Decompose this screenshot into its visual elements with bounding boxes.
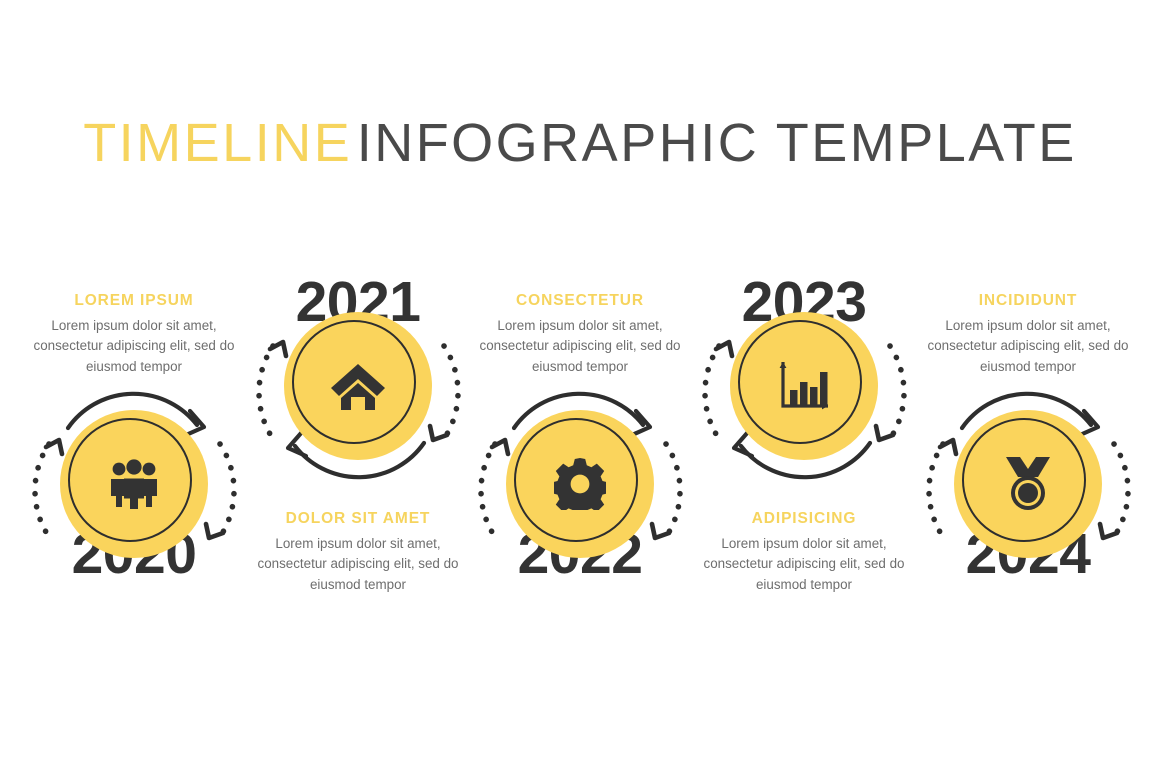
home-icon	[284, 312, 432, 460]
step-heading: ADIPISICING	[688, 510, 920, 527]
page-title: TIMELINE INFOGRAPHIC TEMPLATE	[0, 112, 1160, 174]
right-arc-hook	[206, 524, 223, 538]
page-title-main: INFOGRAPHIC TEMPLATE	[357, 113, 1077, 173]
timeline-step-2021[interactable]: 2021 DOLOR SIT AMET Lorem ipsum dolor	[242, 266, 474, 626]
right-arc-hook	[1100, 524, 1117, 538]
step-heading: LOREM IPSUM	[18, 292, 250, 309]
step-heading: DOLOR SIT AMET	[242, 510, 474, 527]
right-arc-hook	[652, 524, 669, 538]
gear-icon	[506, 410, 654, 558]
step-circle-stage	[918, 392, 1138, 592]
left-dotted-arc	[259, 346, 273, 434]
step-text-block: LOREM IPSUM Lorem ipsum dolor sit amet, …	[18, 292, 250, 377]
right-dotted-arc	[1114, 444, 1128, 532]
step-heading: CONSECTETUR	[464, 292, 696, 309]
timeline-step-2023[interactable]: 2023	[688, 266, 920, 626]
right-arc-hook	[430, 426, 447, 440]
right-arc-hook	[876, 426, 893, 440]
right-dotted-arc	[890, 346, 904, 434]
timeline-step-2022[interactable]: CONSECTETUR Lorem ipsum dolor sit amet, …	[464, 270, 696, 630]
step-text-block: CONSECTETUR Lorem ipsum dolor sit amet, …	[464, 292, 696, 377]
step-text-block: ADIPISICING Lorem ipsum dolor sit amet, …	[688, 510, 920, 595]
left-dotted-arc	[705, 346, 719, 434]
page-title-accent: TIMELINE	[83, 113, 352, 173]
medal-icon	[954, 410, 1102, 558]
left-dotted-arc	[929, 444, 943, 532]
step-body: Lorem ipsum dolor sit amet, consectetur …	[912, 316, 1144, 377]
step-body: Lorem ipsum dolor sit amet, consectetur …	[688, 534, 920, 595]
step-circle-stage	[470, 392, 690, 592]
step-circle-stage	[248, 294, 468, 494]
timeline-step-2024[interactable]: INCIDIDUNT Lorem ipsum dolor sit amet, c…	[912, 270, 1144, 630]
step-text-block: DOLOR SIT AMET Lorem ipsum dolor sit ame…	[242, 510, 474, 595]
step-heading: INCIDIDUNT	[912, 292, 1144, 309]
step-body: Lorem ipsum dolor sit amet, consectetur …	[464, 316, 696, 377]
step-body: Lorem ipsum dolor sit amet, consectetur …	[242, 534, 474, 595]
right-dotted-arc	[220, 444, 234, 532]
bar-chart-icon	[730, 312, 878, 460]
step-circle-stage	[694, 294, 914, 494]
people-group-icon	[60, 410, 208, 558]
right-dotted-arc	[444, 346, 458, 434]
left-dotted-arc	[481, 444, 495, 532]
right-dotted-arc	[666, 444, 680, 532]
timeline-step-2020[interactable]: LOREM IPSUM Lorem ipsum dolor sit amet, …	[18, 270, 250, 630]
step-text-block: INCIDIDUNT Lorem ipsum dolor sit amet, c…	[912, 292, 1144, 377]
timeline-steps: LOREM IPSUM Lorem ipsum dolor sit amet, …	[0, 270, 1160, 630]
step-circle-stage	[24, 392, 244, 592]
step-body: Lorem ipsum dolor sit amet, consectetur …	[18, 316, 250, 377]
left-dotted-arc	[35, 444, 49, 532]
